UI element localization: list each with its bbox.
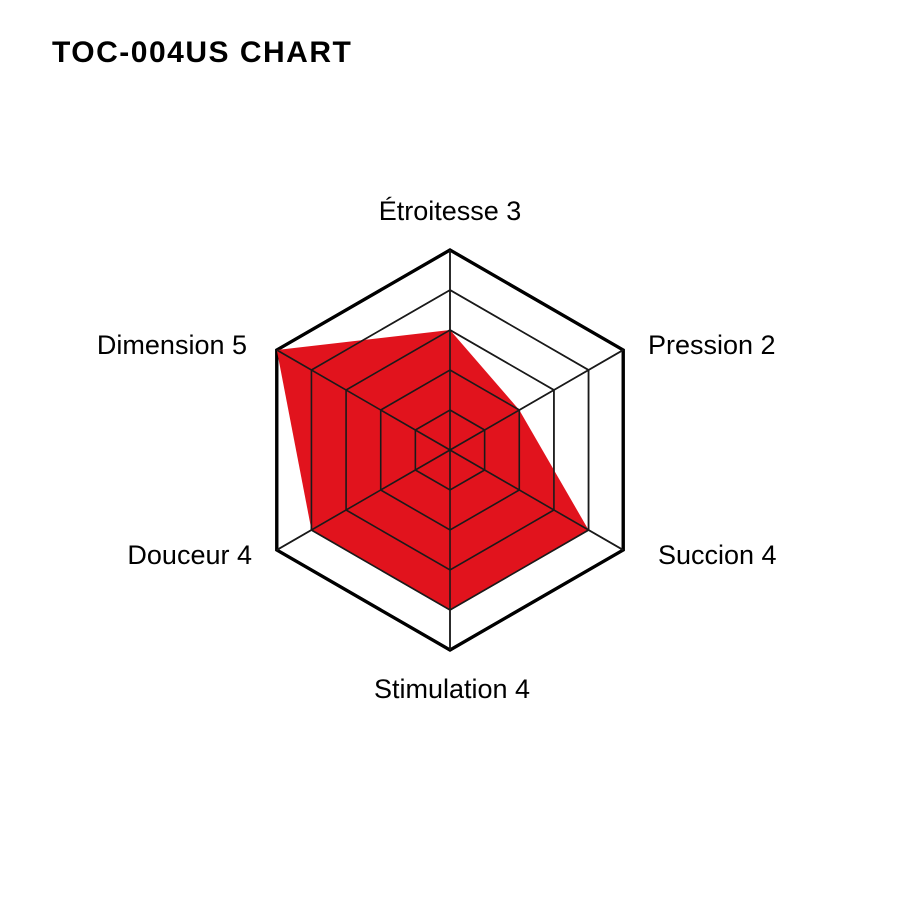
axis-label-etroitesse: Étroitesse 3 [379,198,522,225]
axis-label-stimulation: Stimulation 4 [374,676,530,703]
axis-label-pression: Pression 2 [648,332,776,359]
axis-label-dimension: Dimension 5 [97,332,247,359]
radar-chart-svg [0,0,900,900]
axis-label-douceur: Douceur 4 [127,542,252,569]
axis-label-succion: Succion 4 [658,542,777,569]
radar-chart-page: TOC-004US CHART Étroitesse 3 Pression 2 … [0,0,900,900]
data-series-polygon [277,330,589,610]
